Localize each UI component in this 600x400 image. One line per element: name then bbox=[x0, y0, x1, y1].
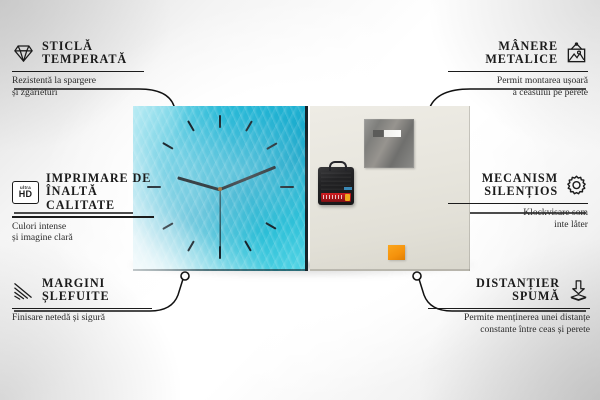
callout-polished-edges: MARGINI ȘLEFUITE Finisare netedă și sigu… bbox=[12, 277, 152, 324]
clock-tick-7 bbox=[187, 240, 194, 251]
hanger-slot bbox=[373, 130, 401, 137]
clock-tick-2 bbox=[266, 142, 277, 149]
callout-header: ultra HD IMPRIMARE DE ÎNALTĂ CALITATE bbox=[12, 172, 154, 212]
diamond-icon bbox=[12, 42, 35, 65]
picture-frame-hanger-icon bbox=[565, 42, 588, 65]
callout-title: DISTANȚIER SPUMĂ bbox=[476, 277, 560, 304]
clock-tick-8 bbox=[162, 222, 173, 229]
callout-subtitle: Culori intense și imagine clară bbox=[12, 221, 154, 244]
clock-tick-12 bbox=[219, 115, 221, 128]
callout-foam-spacer: DISTANȚIER SPUMĂ Permite menținerea unei… bbox=[428, 277, 590, 335]
callout-header: DISTANȚIER SPUMĂ bbox=[428, 277, 590, 304]
callout-header: STICLĂ TEMPERATĂ bbox=[12, 40, 144, 67]
mechanism-label bbox=[344, 187, 352, 190]
callout-tempered-glass: STICLĂ TEMPERATĂ Rezistentă la spargere … bbox=[12, 40, 144, 98]
clock-tick-11 bbox=[187, 120, 194, 131]
callout-header: MARGINI ȘLEFUITE bbox=[12, 277, 152, 304]
callout-title: MÂNERE METALICE bbox=[485, 40, 558, 67]
callout-divider bbox=[12, 308, 152, 309]
clock-tick-1 bbox=[245, 120, 252, 131]
callout-title: IMPRIMARE DE ÎNALTĂ CALITATE bbox=[46, 172, 154, 212]
clock-mechanism bbox=[318, 167, 354, 205]
callout-divider bbox=[12, 71, 144, 72]
metal-hanger-plate bbox=[364, 119, 414, 168]
aa-battery bbox=[321, 193, 351, 202]
gear-icon bbox=[565, 174, 588, 197]
clock-center-pin bbox=[218, 187, 222, 191]
clock-front-panel bbox=[133, 106, 308, 271]
arrow-down-onto-layer-icon bbox=[567, 279, 590, 302]
clock-second-hand bbox=[219, 189, 220, 247]
clock-hour-hand bbox=[177, 176, 220, 191]
callout-divider bbox=[428, 308, 590, 309]
callout-divider bbox=[448, 71, 588, 72]
callout-high-quality-print: ultra HD IMPRIMARE DE ÎNALTĂ CALITATE Cu… bbox=[12, 172, 154, 243]
callout-silent-mechanism: MECANISM SILENȚIOS Klockvisare som inte … bbox=[448, 172, 588, 230]
foam-spacer-block bbox=[388, 245, 405, 260]
clock-tick-4 bbox=[265, 222, 276, 229]
callout-subtitle: Klockvisare som inte låter bbox=[448, 207, 588, 230]
callout-title: MECANISM SILENȚIOS bbox=[482, 172, 558, 199]
callout-header: MECANISM SILENȚIOS bbox=[448, 172, 588, 199]
callout-metal-handles: MÂNERE METALICE Permit montarea ușoară a… bbox=[448, 40, 588, 98]
clock-tick-10 bbox=[162, 142, 173, 149]
callout-subtitle: Finisare netedă și sigură bbox=[12, 312, 152, 323]
battery-print bbox=[323, 195, 344, 199]
ultra-hd-badge-main-text: HD bbox=[19, 190, 32, 200]
clock-tick-3 bbox=[280, 186, 294, 188]
ultra-hd-badge-icon: ultra HD bbox=[12, 181, 39, 204]
polished-edges-icon bbox=[12, 279, 35, 302]
callout-subtitle: Permite menținerea unei distanțe constan… bbox=[428, 312, 590, 335]
callout-divider bbox=[12, 216, 154, 217]
callout-title: MARGINI ȘLEFUITE bbox=[42, 277, 109, 304]
clock-minute-hand bbox=[219, 165, 276, 191]
infographic-canvas: STICLĂ TEMPERATĂ Rezistentă la spargere … bbox=[0, 0, 600, 400]
callout-subtitle: Permit montarea ușoară a ceasului pe per… bbox=[448, 75, 588, 98]
product-image bbox=[133, 106, 470, 271]
callout-divider bbox=[448, 203, 588, 204]
clock-tick-5 bbox=[244, 240, 251, 251]
callout-title: STICLĂ TEMPERATĂ bbox=[42, 40, 127, 67]
callout-header: MÂNERE METALICE bbox=[448, 40, 588, 67]
callout-subtitle: Rezistentă la spargere și zgârieturi bbox=[12, 75, 144, 98]
clock-tick-6 bbox=[219, 246, 221, 259]
